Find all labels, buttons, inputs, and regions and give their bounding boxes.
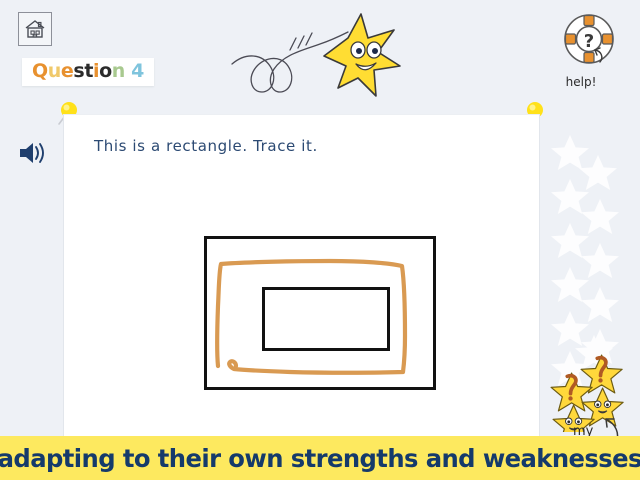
question-badge-letter: u	[48, 60, 61, 82]
empty-star-group	[551, 135, 619, 386]
caption-text: ...adapting to their own strengths and w…	[0, 444, 640, 473]
question-badge-letter: t	[84, 60, 93, 82]
question-badge-letter: e	[61, 60, 74, 82]
question-badge: Question 4	[22, 58, 154, 86]
app-root: Question 4	[0, 0, 640, 480]
speaker-audio-icon[interactable]	[18, 139, 48, 167]
lifebuoy-help-icon: ?	[560, 55, 618, 72]
question-badge-letter: n	[112, 60, 125, 82]
trace-exercise-area[interactable]	[204, 236, 436, 390]
question-badge-label: Question 4	[32, 62, 144, 81]
home-button[interactable]	[18, 12, 52, 46]
help-label: help!	[566, 75, 597, 89]
question-badge-letter: 4	[131, 60, 144, 82]
inner-rectangle-shape	[262, 287, 390, 351]
question-badge-letter: Q	[32, 60, 48, 82]
star-reward-column	[548, 132, 640, 432]
help-button[interactable]: ? help!	[550, 10, 628, 90]
help-question-mark: ?	[584, 31, 594, 52]
home-icon	[23, 17, 47, 41]
smiling-star-doodle	[228, 8, 408, 108]
caption-bar: ...adapting to their own strengths and w…	[0, 436, 640, 480]
prompt-text: This is a rectangle. Trace it.	[94, 137, 318, 155]
question-badge-letter: o	[99, 60, 112, 82]
question-badge-letter: s	[73, 60, 84, 82]
